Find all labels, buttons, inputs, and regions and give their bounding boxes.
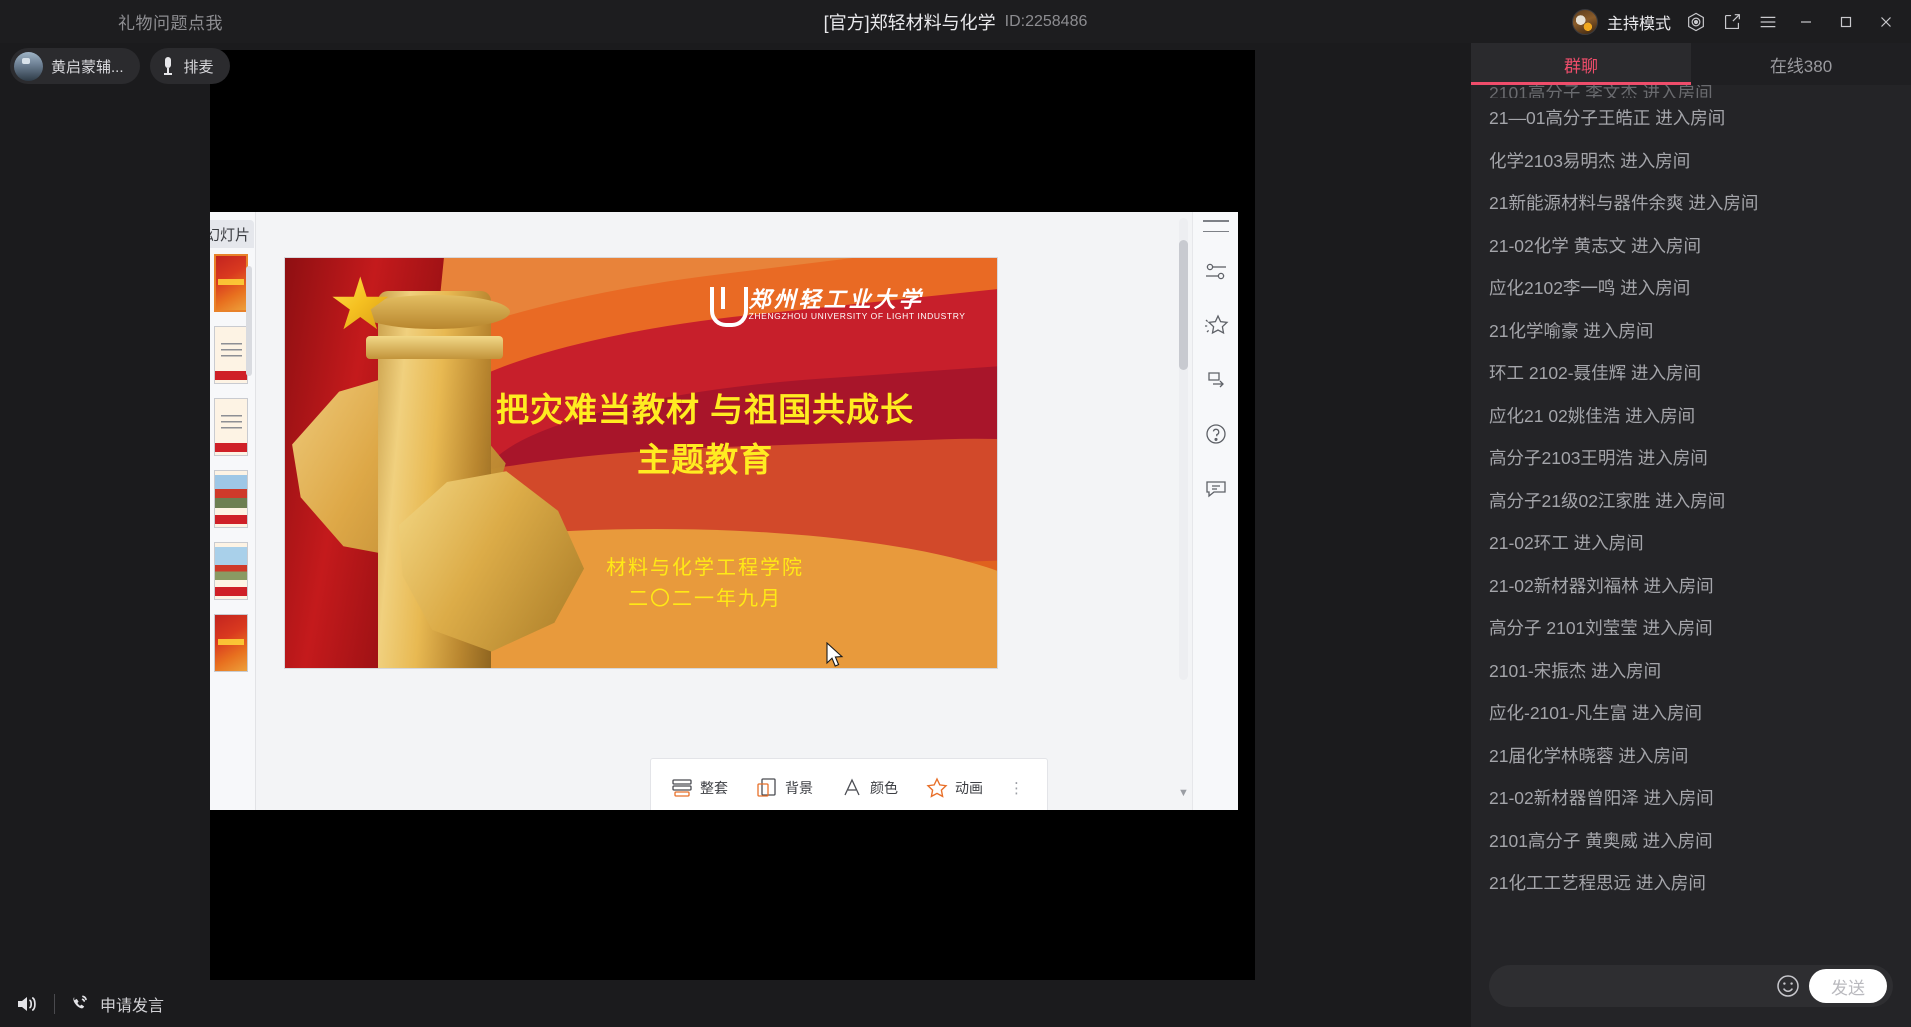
chat-message: 2101高分子 黄奥威 进入房间 [1489,821,1893,864]
microphone-icon [160,55,176,77]
slide-settings-icon[interactable] [1202,258,1230,286]
animation-star-icon[interactable] [1202,312,1230,340]
canvas-scroll-down-icon[interactable]: ▼ [1177,787,1190,800]
chat-message: 21—01高分子王皓正 进入房间 [1489,98,1893,141]
title-bar: 礼物问题点我 [官方]郑轻材料与化学 ID:2258486 主持模式 [0,0,1911,43]
chat-message: 21-02环工 进入房间 [1489,523,1893,566]
mic-queue-chip[interactable]: 排麦 [150,48,230,84]
avatar [14,52,43,81]
meeting-app-window: 礼物问题点我 [官方]郑轻材料与化学 ID:2258486 主持模式 [0,0,1911,1027]
slide-title: 把灾难当教材 与祖国共成长 主题教育 [442,385,969,484]
chat-message: 应化21 02姚佳浩 进入房间 [1489,396,1893,439]
host-avatar[interactable] [1572,9,1598,35]
tab-group-chat[interactable]: 群聊 [1471,43,1691,85]
design-button-background[interactable]: 背景 [754,775,813,801]
chat-message: 高分子 2101刘莹莹 进入房间 [1489,608,1893,651]
request-to-speak-label: 申请发言 [100,992,164,1016]
university-logo: 郑州轻工业大学 ZHENGZHOU UNIVERSITY OF LIGHT IN… [708,279,976,331]
transition-icon[interactable] [1202,366,1230,394]
chat-message: 21化工工艺程思远 进入房间 [1489,863,1893,906]
slide-thumbnail-4[interactable] [214,470,248,528]
chat-message: 21化学喻豪 进入房间 [1489,311,1893,354]
participant-chip-host[interactable]: 黄启蒙辅... [10,48,140,84]
chat-input-row[interactable]: 发送 [1489,965,1893,1007]
volume-icon[interactable] [14,991,40,1017]
maximize-icon[interactable] [1833,9,1859,35]
chat-message: 2101高分子 李文杰 进入房间 [1489,85,1893,98]
slide-thumbnail-1[interactable] [214,254,248,312]
room-title: [官方]郑轻材料与化学 [824,9,996,35]
chat-message: 环工 2102-聂佳辉 进入房间 [1489,353,1893,396]
design-label-animation: 动画 [955,778,983,798]
help-icon[interactable] [1202,420,1230,448]
chat-message: 21届化学林晓蓉 进入房间 [1489,736,1893,779]
tab-online-members[interactable]: 在线380 [1691,43,1911,85]
chat-message: 高分子21级02江家胜 进入房间 [1489,481,1893,524]
slide-subtitle-line2: 二〇二一年九月 [470,584,940,615]
minimize-icon[interactable] [1793,9,1819,35]
gear-icon[interactable] [1685,11,1707,33]
thumbnail-scrollbar[interactable] [246,266,252,376]
request-to-speak-button[interactable]: 申请发言 [69,992,164,1016]
slide-thumbnail-3[interactable] [214,398,248,456]
chat-tabs: 群聊 在线380 [1471,43,1911,85]
chat-message: 高分子2103王明浩 进入房间 [1489,438,1893,481]
shared-screen-stage[interactable]: 幻灯片 [210,50,1255,980]
color-icon [839,775,865,801]
shared-presentation-window[interactable]: 幻灯片 [210,212,1238,810]
menu-icon[interactable] [1203,220,1229,232]
chat-message: 21‐02化学 黄志文 进入房间 [1489,226,1893,269]
slide-subtitle-line1: 材料与化学工程学院 [470,553,940,584]
slide-design-toolbar[interactable]: 整套 背景 [650,758,1048,810]
chat-message: 21新能源材料与器件余爽 进入房间 [1489,183,1893,226]
chat-message: 2101-宋振杰 进入房间 [1489,651,1893,694]
slide-thumbnail-5[interactable] [214,542,248,600]
background-icon [754,775,780,801]
bottom-control-bar: 申请发言 [0,980,1471,1027]
divider [54,994,55,1014]
slide-subtitle: 材料与化学工程学院 二〇二一年九月 [470,553,940,615]
slide-canvas-area[interactable]: 郑州轻工业大学 ZHENGZHOU UNIVERSITY OF LIGHT IN… [256,212,1192,810]
send-button[interactable]: 发送 [1809,969,1887,1003]
chat-input[interactable] [1507,977,1775,995]
external-link-icon[interactable] [1721,11,1743,33]
slide-thumbnail-rail[interactable]: 幻灯片 [210,212,256,810]
chat-message-list[interactable]: 2101高分子 李文杰 进入房间 21—01高分子王皓正 进入房间 化学2103… [1471,85,1911,949]
gift-help-link[interactable]: 礼物问题点我 [118,9,223,34]
host-mode-label[interactable]: 主持模式 [1607,10,1671,34]
participant-chips: 黄启蒙辅... 排麦 [10,48,230,84]
title-bar-left: 礼物问题点我 [118,0,223,43]
design-label-background: 背景 [785,778,813,798]
slide-title-line2: 主题教育 [442,435,969,485]
chat-message: 应化-2101-凡生富 进入房间 [1489,693,1893,736]
title-bar-right: 主持模式 [1572,0,1899,43]
slide-title-line1: 把灾难当教材 与祖国共成长 [442,385,969,435]
slide-panel-tab[interactable]: 幻灯片 [210,220,254,248]
design-label-template-set: 整套 [700,778,728,798]
chat-panel: 群聊 在线380 2101高分子 李文杰 进入房间 21—01高分子王皓正 进入… [1471,43,1911,1027]
phone-request-icon [69,993,91,1015]
design-button-animation[interactable]: 动画 [924,775,983,801]
presentation-tool-rail[interactable] [1192,212,1238,810]
slide-thumbnail-2[interactable] [214,326,248,384]
design-button-color[interactable]: 颜色 [839,775,898,801]
design-label-color: 颜色 [870,778,898,798]
room-id: ID:2258486 [1005,13,1088,31]
slide-thumbnail-6[interactable] [214,614,248,672]
hamburger-menu-icon[interactable] [1757,11,1779,33]
chat-message: 应化2102李一鸣 进入房间 [1489,268,1893,311]
animation-star-icon [924,775,950,801]
chat-message: 21-02新材器刘福林 进入房间 [1489,566,1893,609]
mic-queue-label: 排麦 [184,56,214,77]
feedback-icon[interactable] [1202,474,1230,502]
chat-message: 21-02新材器曾阳泽 进入房间 [1489,778,1893,821]
chat-message: 化学2103易明杰 进入房间 [1489,141,1893,184]
emoji-smiley-icon[interactable] [1775,973,1801,999]
current-slide[interactable]: 郑州轻工业大学 ZHENGZHOU UNIVERSITY OF LIGHT IN… [285,258,997,668]
canvas-scrollbar[interactable] [1179,218,1188,680]
design-button-template-set[interactable]: 整套 [669,775,728,801]
university-logo-cn: 郑州轻工业大学 [749,288,966,311]
participant-name: 黄启蒙辅... [51,56,124,77]
template-set-icon [669,775,695,801]
design-more-icon[interactable]: ⋮ [1009,779,1026,797]
university-logo-en: ZHENGZHOU UNIVERSITY OF LIGHT INDUSTRY [749,311,966,321]
university-logo-mark-icon [708,285,742,325]
close-icon[interactable] [1873,9,1899,35]
